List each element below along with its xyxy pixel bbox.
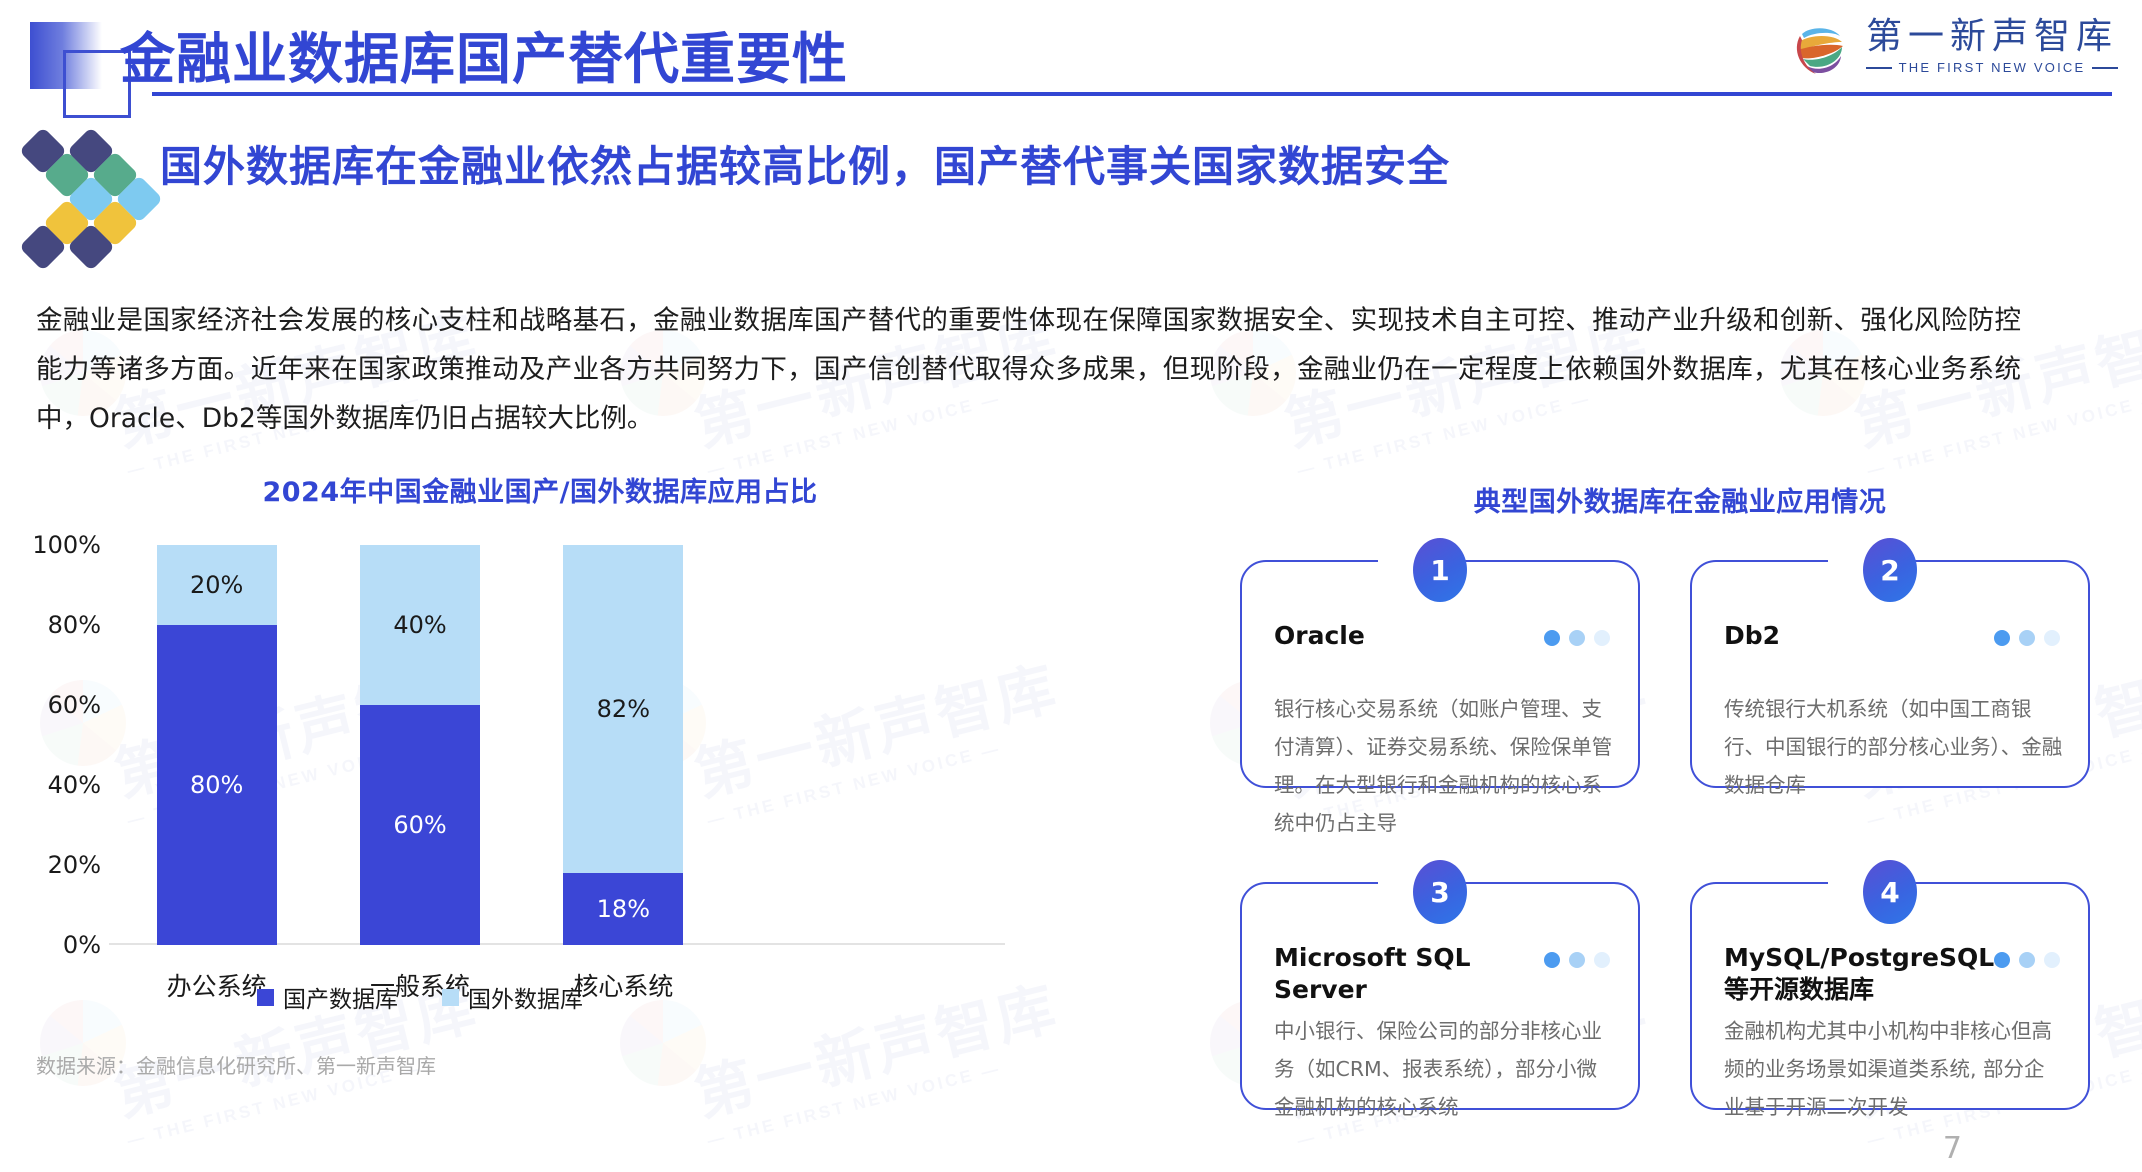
card-title: Oracle — [1274, 620, 1365, 652]
dot-2-icon — [2019, 952, 2035, 968]
bar-value-label: 60% — [393, 811, 446, 839]
chart-panel: 2024年中国金融业国产/国外数据库应用占比 0%20%40%60%80%100… — [20, 470, 1060, 1160]
legend-item[interactable]: 国产数据库 — [257, 980, 398, 1014]
dot-2-icon — [1569, 952, 1585, 968]
diamond-decor-icon — [20, 118, 150, 218]
bar-column: 40%60%一般系统 — [360, 545, 480, 945]
card-dots-icon — [1994, 952, 2060, 968]
bar-value-label: 80% — [190, 771, 243, 799]
card-title: Db2 — [1724, 620, 1780, 652]
card-number-badge: 3 — [1413, 860, 1467, 924]
dot-3-icon — [1594, 630, 1610, 646]
card-dots-icon — [1994, 630, 2060, 646]
card-description: 金融机构尤其中小机构中非核心但高频的业务场景如渠道类系统, 部分企业基于开源二次… — [1724, 1012, 2064, 1126]
cards-panel-title: 典型国外数据库在金融业应用情况 — [1240, 480, 2120, 519]
header-underline — [152, 92, 2112, 96]
chart-plot-area: 0%20%40%60%80%100%20%80%办公系统40%60%一般系统82… — [115, 545, 725, 945]
card-description: 银行核心交易系统（如账户管理、支付清算）、证券交易系统、保险保单管理。在大型银行… — [1274, 690, 1614, 842]
card-title: Microsoft SQL Server — [1274, 942, 1534, 1006]
page-title: 金融业数据库国产替代重要性 — [120, 14, 848, 94]
bar-segment-domestic: 80% — [157, 625, 277, 945]
globe-logo-icon — [1790, 16, 1852, 78]
database-card[interactable]: 3Microsoft SQL Server中小银行、保险公司的部分非核心业务（如… — [1240, 860, 1640, 1110]
card-header: Db2 — [1724, 620, 2060, 652]
card-number-badge: 4 — [1863, 860, 1917, 924]
brand-rule-left — [1866, 67, 1892, 69]
bar-value-label: 82% — [597, 695, 650, 723]
body-paragraph: 金融业是国家经济社会发展的核心支柱和战略基石，金融业数据库国产替代的重要性体现在… — [36, 296, 2021, 443]
dot-1-icon — [1994, 630, 2010, 646]
dot-2-icon — [1569, 630, 1585, 646]
card-description: 传统银行大机系统（如中国工商银行、中国银行的部分核心业务）、金融数据仓库 — [1724, 690, 2064, 804]
brand-rule-right — [2092, 67, 2118, 69]
slide-root: 第一新声智库— THE FIRST NEW VOICE —第一新声智库— THE… — [0, 0, 2142, 1172]
card-dots-icon — [1544, 630, 1610, 646]
y-axis-tick-label: 20% — [48, 851, 101, 879]
bar-column: 82%18%核心系统 — [563, 545, 683, 945]
dot-2-icon — [2019, 630, 2035, 646]
brand-name-en: THE FIRST NEW VOICE — [1899, 60, 2086, 75]
database-card[interactable]: 2Db2传统银行大机系统（如中国工商银行、中国银行的部分核心业务）、金融数据仓库 — [1690, 538, 2090, 788]
page-number: 7 — [1943, 1131, 1962, 1166]
dot-3-icon — [2044, 952, 2060, 968]
card-title: MySQL/PostgreSQL等开源数据库 — [1724, 942, 1984, 1006]
bar-segment-foreign: 40% — [360, 545, 480, 705]
brand-logo: 第一新声智库 THE FIRST NEW VOICE — [1790, 16, 2118, 78]
bar-value-label: 18% — [597, 895, 650, 923]
card-number-badge: 2 — [1863, 538, 1917, 602]
card-header: Oracle — [1274, 620, 1610, 652]
legend-swatch — [257, 989, 274, 1006]
bar-value-label: 40% — [393, 611, 446, 639]
brand-name-cn: 第一新声智库 — [1866, 19, 2118, 55]
card-description: 中小银行、保险公司的部分非核心业务（如CRM、报表系统），部分小微金融机构的核心… — [1274, 1012, 1614, 1126]
y-axis-tick-label: 60% — [48, 691, 101, 719]
dot-1-icon — [1994, 952, 2010, 968]
section-subtitle: 国外数据库在金融业依然占据较高比例，国产替代事关国家数据安全 — [160, 133, 1450, 194]
database-card[interactable]: 1Oracle银行核心交易系统（如账户管理、支付清算）、证券交易系统、保险保单管… — [1240, 538, 1640, 788]
bar-segment-domestic: 18% — [563, 873, 683, 945]
card-number-badge: 1 — [1413, 538, 1467, 602]
source-note: 数据来源：金融信息化研究所、第一新声智库 — [36, 1050, 436, 1079]
dot-1-icon — [1544, 952, 1560, 968]
cards-panel: 典型国外数据库在金融业应用情况 1Oracle银行核心交易系统（如账户管理、支付… — [1240, 480, 2120, 1140]
bar-value-label: 20% — [190, 571, 243, 599]
card-header: Microsoft SQL Server — [1274, 942, 1610, 1006]
dot-3-icon — [1594, 952, 1610, 968]
legend-label: 国外数据库 — [468, 980, 583, 1014]
database-card[interactable]: 4MySQL/PostgreSQL等开源数据库金融机构尤其中小机构中非核心但高频… — [1690, 860, 2090, 1110]
legend-item[interactable]: 国外数据库 — [442, 980, 583, 1014]
bar-segment-domestic: 60% — [360, 705, 480, 945]
card-header: MySQL/PostgreSQL等开源数据库 — [1724, 942, 2060, 1006]
chart-legend: 国产数据库国外数据库 — [115, 980, 725, 1014]
dot-3-icon — [2044, 630, 2060, 646]
bar-segment-foreign: 82% — [563, 545, 683, 873]
y-axis-tick-label: 40% — [48, 771, 101, 799]
y-axis-tick-label: 0% — [63, 931, 101, 959]
chart-title: 2024年中国金融业国产/国外数据库应用占比 — [20, 470, 1060, 509]
legend-label: 国产数据库 — [283, 980, 398, 1014]
dot-1-icon — [1544, 630, 1560, 646]
bar-segment-foreign: 20% — [157, 545, 277, 625]
card-dots-icon — [1544, 952, 1610, 968]
legend-swatch — [442, 989, 459, 1006]
bar-column: 20%80%办公系统 — [157, 545, 277, 945]
y-axis-tick-label: 80% — [48, 611, 101, 639]
y-axis-tick-label: 100% — [32, 531, 101, 559]
